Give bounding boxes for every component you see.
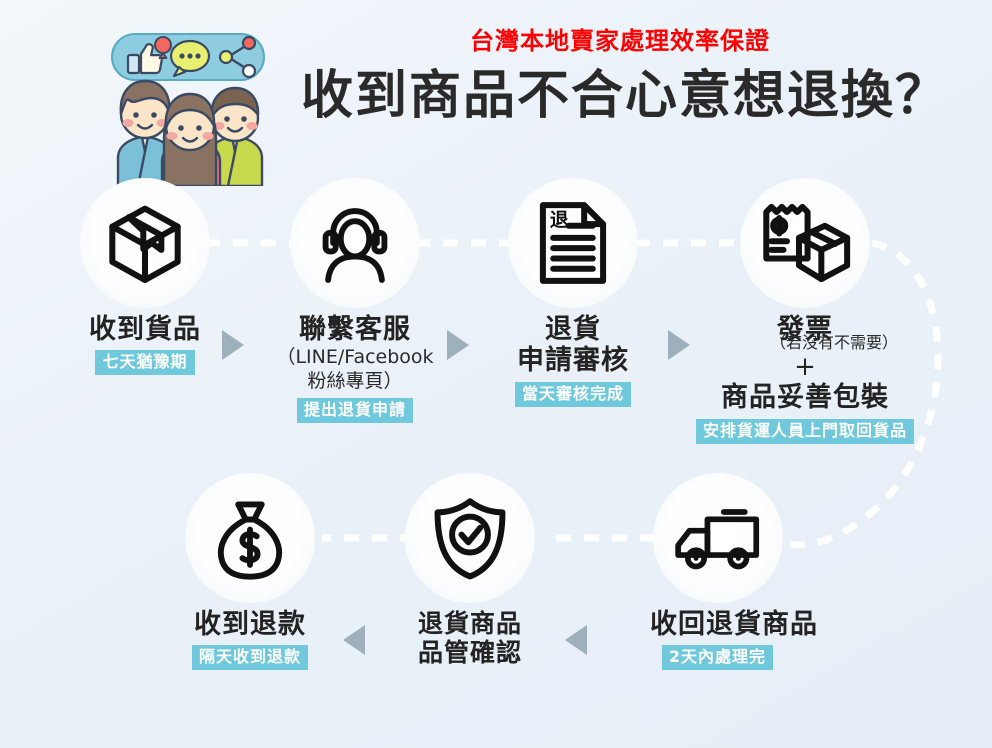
delivery-truck-icon <box>653 473 783 603</box>
step-label: 收到退款 <box>185 609 315 640</box>
flow-step-refund-received: 收到退款 隔天收到退款 <box>185 473 315 670</box>
step-label-line2: 品管確認 <box>405 638 535 667</box>
infographic-canvas: 台灣本地賣家處理效率保證 收到商品不合心意想退換？ 收到貨品 <box>0 0 992 748</box>
plus-sign: + <box>690 354 920 380</box>
arrow-right-1 <box>222 330 244 360</box>
step-label: 收到貨品 <box>80 314 210 345</box>
step-label-line1: 退貨商品 <box>405 609 535 638</box>
receipt-and-box-icon <box>740 178 870 308</box>
money-bag-icon <box>185 473 315 603</box>
step-label: 聯繫客服 <box>265 314 445 345</box>
status-badge: 安排貨運人員上門取回貨品 <box>696 419 914 444</box>
arrow-right-2 <box>447 330 469 360</box>
three-people-illustration <box>118 81 262 186</box>
social-people-logo <box>100 18 280 186</box>
customer-service-headset-icon <box>290 178 420 308</box>
step-label-line2: 商品妥善包裝 <box>690 382 920 413</box>
flow-step-collect-returned-goods: 收回退貨商品 2天內處理完 <box>650 473 785 670</box>
package-box-icon <box>80 178 210 308</box>
flow-step-invoice-packaging: 發票 （若沒有不需要） + 商品妥善包裝 安排貨運人員上門取回貨品 <box>690 178 920 444</box>
status-badge: 隔天收到退款 <box>192 645 308 670</box>
step-label-line1: 退貨 <box>508 314 638 345</box>
arrow-left-2 <box>565 625 587 655</box>
flow-step-quality-check: 退貨商品 品管確認 <box>405 473 535 667</box>
header-subtitle: 台灣本地賣家處理效率保證 <box>290 28 950 54</box>
step-sub-line1: （LINE/Facebook <box>265 346 445 369</box>
status-badge: 七天猶豫期 <box>95 350 194 375</box>
flow-step-contact-support: 聯繫客服 （LINE/Facebook 粉絲專頁） 提出退貨申請 <box>265 178 445 423</box>
arrow-right-3 <box>668 330 690 360</box>
step-sub-line2: 粉絲專頁） <box>265 370 445 393</box>
status-badge: 提出退貨申請 <box>297 398 413 423</box>
return-glyph: 退 <box>550 209 569 231</box>
step-label: 收回退貨商品 <box>650 609 785 640</box>
shield-check-icon <box>405 473 535 603</box>
page-title: 收到商品不合心意想退換？ <box>280 66 970 126</box>
flow-step-return-review: 退 退貨 申請審核 當天審核完成 <box>508 178 638 407</box>
step-label-line2: 申請審核 <box>508 345 638 376</box>
status-badge: 2天內處理完 <box>662 645 773 670</box>
arrow-left-1 <box>343 625 365 655</box>
flow-step-receive-goods: 收到貨品 七天猶豫期 <box>80 178 210 375</box>
status-badge: 當天審核完成 <box>515 382 631 407</box>
return-document-icon: 退 <box>508 178 638 308</box>
step-note: （若沒有不需要） <box>748 329 920 353</box>
